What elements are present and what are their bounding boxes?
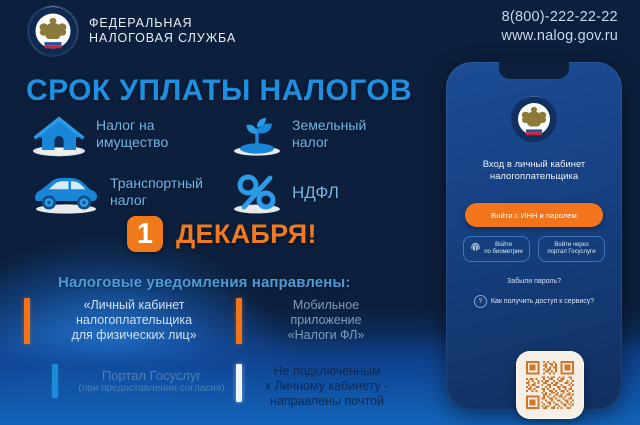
- tax-label-land: Земельныйналог: [292, 117, 366, 151]
- notification-channel-lk: «Личный кабинет налогоплательщика для фи…: [24, 298, 236, 350]
- poster: ФЕДЕРАЛЬНАЯ НАЛОГОВАЯ СЛУЖБА 8(800)-222-…: [0, 0, 640, 425]
- phone-login-heading: Вход в личный кабинет налогоплательщика: [464, 159, 604, 183]
- alternate-login-buttons: Войтипо биометрии Войти черезпортал Госу…: [463, 236, 605, 262]
- brand-header: ФЕДЕРАЛЬНАЯ НАЛОГОВАЯ СЛУЖБА: [28, 6, 236, 56]
- notifications-title: Налоговые уведомления направлены:: [58, 274, 350, 291]
- accent-bar-white: [236, 364, 242, 402]
- notification-text-lk: «Личный кабинет налогоплательщика для фи…: [39, 298, 229, 343]
- notification-text-post: Не подключенным к Личному кабинету - нап…: [251, 364, 403, 409]
- deadline-banner: 1 ДЕКАБРЯ!: [127, 216, 317, 252]
- tax-label-property: Налог наимущество: [96, 117, 168, 151]
- forgot-password-link[interactable]: Забыли пароль?: [507, 278, 561, 285]
- login-gosuslugi-label: Войти черезпортал Госуслуги: [547, 242, 595, 257]
- sprout-icon: [230, 110, 284, 158]
- org-name: ФЕДЕРАЛЬНАЯ НАЛОГОВАЯ СЛУЖБА: [89, 16, 236, 46]
- page-title: СРОК УПЛАТЫ НАЛОГОВ: [26, 74, 412, 108]
- qr-code-panel: [516, 351, 584, 419]
- notifications-grid: «Личный кабинет налогоплательщика для фи…: [24, 298, 424, 416]
- tax-item-property: Налог наимущество: [30, 108, 230, 160]
- org-name-line2: НАЛОГОВАЯ СЛУЖБА: [89, 31, 236, 46]
- percent-icon: [230, 167, 284, 217]
- website-url[interactable]: www.nalog.gov.ru: [501, 27, 618, 46]
- accent-bar-orange: [236, 298, 242, 344]
- contact-info: 8(800)-222-22-22 www.nalog.gov.ru: [501, 8, 618, 46]
- fns-emblem-icon: [28, 6, 78, 56]
- car-icon: [30, 167, 102, 217]
- fns-emblem-icon: [511, 96, 557, 142]
- login-gosuslugi-button[interactable]: Войти черезпортал Госуслуги: [538, 236, 605, 262]
- tax-label-ndfl: НДФЛ: [292, 184, 339, 201]
- notification-channel-gosuslugi: Портал Госуслуг (при предоставлении согл…: [24, 364, 236, 416]
- fingerprint-icon: [470, 242, 481, 257]
- login-inn-password-button[interactable]: Войти с ИНН и паролем: [465, 203, 603, 227]
- tax-item-land: Земельныйналог: [230, 108, 366, 160]
- qr-code[interactable]: [522, 357, 578, 413]
- notification-text-app: Мобильное приложение «Налоги ФЛ»: [251, 298, 401, 343]
- login-biometry-label: Войтипо биометрии: [484, 242, 522, 257]
- house-icon: [30, 110, 88, 158]
- org-name-line1: ФЕДЕРАЛЬНАЯ: [89, 16, 236, 31]
- tax-item-transport: Транспортныйналог: [30, 164, 230, 220]
- tax-item-ndfl: НДФЛ: [230, 164, 339, 220]
- hotline-phone: 8(800)-222-22-22: [501, 8, 618, 27]
- help-access-label: Как получить доступ к сервису?: [491, 298, 594, 305]
- login-biometry-button[interactable]: Войтипо биометрии: [463, 236, 530, 262]
- deadline-day-badge: 1: [127, 216, 163, 252]
- notification-channel-app: Мобильное приложение «Налоги ФЛ»: [236, 298, 401, 350]
- accent-bar-orange: [24, 298, 30, 344]
- tax-label-transport: Транспортныйналог: [110, 175, 203, 209]
- deadline-day: 1: [137, 220, 153, 249]
- notification-text-gosuslugi: Портал Госуслуг (при предоставлении согл…: [67, 364, 236, 395]
- deadline-month: ДЕКАБРЯ!: [176, 219, 317, 250]
- question-icon: ?: [474, 295, 487, 308]
- tax-types-grid: Налог наимущество Земельныйналог: [30, 108, 420, 220]
- accent-bar-blue: [52, 364, 58, 398]
- help-access-link[interactable]: ? Как получить доступ к сервису?: [474, 295, 594, 308]
- notification-channel-post: Не подключенным к Личному кабинету - нап…: [236, 364, 403, 416]
